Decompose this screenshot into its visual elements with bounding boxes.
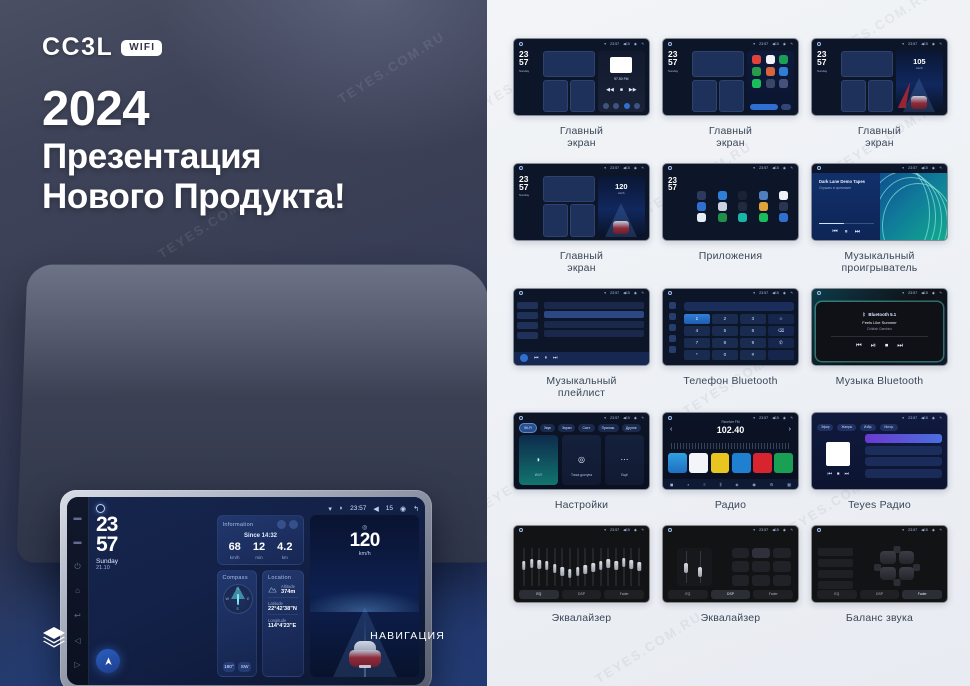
- player-controls[interactable]: ⏮ ⏹ ⏭: [827, 471, 849, 477]
- thumb-body: ᛒ Bluetooth 5.1 Feels Like Summer Childi…: [812, 298, 947, 365]
- stat-unit: km: [277, 555, 292, 560]
- band-slider[interactable]: [598, 548, 604, 586]
- teyes-radio-tabs[interactable]: Эфир Жанры Избр. Истор.: [812, 422, 947, 432]
- preset-flat[interactable]: [752, 575, 770, 586]
- car-icon: [697, 191, 706, 200]
- information-card: [543, 176, 595, 202]
- assistant-icon[interactable]: ◉: [400, 505, 406, 513]
- search-icon[interactable]: ⌕: [687, 482, 689, 487]
- more-icon: ⋯: [605, 455, 644, 464]
- gallery-item[interactable]: ▾23:57◀15◉↰ Эфир Жанры Избр. Истор. ⏮ ⏹: [811, 412, 948, 511]
- thumb-body: 23 57 Sunday: [812, 48, 947, 115]
- station-list[interactable]: [865, 434, 943, 485]
- maps-icon: [718, 213, 727, 222]
- tune-down-icon[interactable]: ‹: [670, 426, 672, 433]
- stop-icon[interactable]: ⏹: [885, 342, 888, 350]
- compass-north-label: N: [236, 587, 239, 591]
- caption-line1: Радио: [715, 499, 746, 511]
- screen-thumbnail-equalizer-simple[interactable]: ▾23:57◀15◉↰: [662, 525, 799, 603]
- wifi-icon: ▾: [328, 505, 332, 513]
- gallery-item[interactable]: ▾23:57◀15◉↰ 23 57: [662, 163, 799, 275]
- next-icon[interactable]: ⏭: [553, 355, 558, 361]
- phone-sidebar[interactable]: [663, 298, 682, 365]
- caption-line1: Главный: [709, 125, 752, 137]
- caption-line2: проигрыватель: [842, 262, 918, 274]
- track-artist: Слушать в оригинале: [819, 186, 874, 190]
- speed-readout: 105km/h: [896, 57, 943, 70]
- sidebar-item-tracks[interactable]: [517, 302, 538, 309]
- favorites-icon[interactable]: ☆: [768, 314, 794, 324]
- thumb-body: Dark Lane Demo Tapes Слушать в оригинале…: [812, 173, 947, 240]
- thumb-status-bar: ▾23:57◀15◉↰: [514, 289, 649, 298]
- caption-line1: Главный: [858, 125, 901, 137]
- track-title: Dark Lane Demo Tapes: [819, 179, 874, 184]
- menu-key-icon[interactable]: ▬: [73, 513, 82, 522]
- player-controls[interactable]: ⏮ ⏸ ⏭: [819, 229, 874, 236]
- player-controls[interactable]: ⏮ ⏯ ⏹ ⏭: [856, 342, 903, 350]
- information-card: [543, 51, 595, 77]
- wifi-icon: ◗: [519, 455, 558, 464]
- keypad[interactable]: 1 2 3 ☆ 4 5 6 ⌫ 7 8 9 ✆: [684, 314, 794, 360]
- tab-history[interactable]: Истор.: [880, 424, 898, 431]
- band-slider[interactable]: [613, 548, 619, 586]
- chrome-icon: [697, 202, 706, 211]
- caption-line1: Музыка Bluetooth: [836, 375, 924, 387]
- headline-line2: Нового Продукта!: [42, 177, 442, 217]
- dialer-area[interactable]: 1 2 3 ☆ 4 5 6 ⌫ 7 8 9 ✆: [682, 298, 798, 365]
- altitude-value: 374m: [281, 589, 295, 595]
- screen-thumbnail-home-media[interactable]: ▾23:57◀15◉↰ 23 57 Sunday: [513, 38, 650, 116]
- clock-minutes: 57: [817, 59, 839, 67]
- play-store-icon: [759, 213, 768, 222]
- brand-model-text: CC3L: [42, 33, 113, 62]
- shortcut-grid: [747, 51, 794, 92]
- navigation-label: НАВИГАЦИЯ: [370, 630, 445, 642]
- home-key-icon[interactable]: ⌂: [73, 586, 82, 595]
- screen-thumbnail-home-navi-red[interactable]: ▾23:57◀15◉↰ 23 57 Sunday: [811, 38, 948, 116]
- play-pause-icon[interactable]: ⏯: [871, 342, 876, 350]
- sidebar-item-folders[interactable]: [517, 332, 538, 339]
- settings-icon[interactable]: [277, 520, 286, 529]
- key-hash[interactable]: #: [740, 350, 766, 360]
- loc-icon[interactable]: ◉: [752, 482, 756, 487]
- tab-effects[interactable]: DSP: [562, 590, 602, 599]
- next-icon[interactable]: ⏭: [845, 471, 850, 477]
- bluetooth-player: ᛒ Bluetooth 5.1 Feels Like Summer Childi…: [816, 302, 943, 361]
- media-quick-actions: [601, 103, 642, 109]
- preset-buttons[interactable]: [732, 548, 791, 586]
- preset-vocal[interactable]: [773, 561, 791, 572]
- thumb-body: 1 2 3 ☆ 4 5 6 ⌫ 7 8 9 ✆: [663, 298, 798, 365]
- thumb-widgets: [541, 173, 598, 240]
- pause-icon[interactable]: ⏸: [545, 355, 548, 361]
- thumb-body: 23 57 Sunday: [514, 48, 649, 115]
- tab-apps[interactable]: Прилож.: [598, 424, 619, 432]
- preset-2[interactable]: [689, 453, 708, 473]
- bluetooth-icon: [718, 191, 727, 200]
- status-time: 23:57: [350, 505, 366, 512]
- tab-genres[interactable]: Жанры: [837, 424, 856, 431]
- tab-balance[interactable]: Fader: [604, 590, 644, 599]
- player-info: Dark Lane Demo Tapes Слушать в оригинале…: [812, 173, 880, 240]
- thumb-status-bar: ▾23:57◀15◉↰: [812, 413, 947, 422]
- key-6[interactable]: 6: [740, 326, 766, 336]
- gallery-item[interactable]: ▾23:57◀15◉↰: [513, 525, 650, 624]
- seat-rear-right: [899, 567, 915, 580]
- now-playing-bar[interactable]: ⏮ ⏸ ⏭: [514, 352, 649, 365]
- key-9[interactable]: 9: [740, 338, 766, 348]
- compass-card: [692, 80, 717, 112]
- navigation-widget: 120km/h: [598, 176, 645, 237]
- key-8[interactable]: 8: [712, 338, 738, 348]
- stop-icon[interactable]: ⏹: [837, 471, 840, 477]
- previous-icon[interactable]: ⏮: [534, 355, 539, 361]
- list-item[interactable]: [865, 446, 943, 455]
- screen-thumbnail-music-player[interactable]: ▾23:57◀15◉↰ Dark Lane Demo Tapes Слушать…: [811, 163, 948, 241]
- volume-up-key-icon[interactable]: ▷: [73, 660, 82, 669]
- band-slider[interactable]: [636, 548, 642, 586]
- compass-heading: 180°: [223, 662, 236, 672]
- settings-icon: [779, 67, 788, 76]
- settings-icon[interactable]: ⚙: [770, 482, 774, 487]
- caption-line1: Эквалайзер: [552, 612, 612, 624]
- list-item[interactable]: [865, 469, 943, 478]
- tab-balance[interactable]: Fader: [753, 590, 793, 599]
- contacts-icon[interactable]: [669, 313, 676, 320]
- gallery-icon: [766, 67, 775, 76]
- previous-icon[interactable]: ⏮: [832, 229, 837, 236]
- caption: Главный экран: [560, 125, 603, 150]
- home-icon[interactable]: [96, 504, 105, 513]
- tab-equalizer[interactable]: EQ: [519, 590, 559, 599]
- preset-rock[interactable]: [752, 548, 770, 559]
- list-item[interactable]: [544, 302, 644, 309]
- preset-driver[interactable]: [818, 548, 853, 556]
- gallery-item[interactable]: ▾23:57◀15◉↰ 23 57 Sunday: [513, 163, 650, 275]
- lower-widgets: [543, 204, 595, 236]
- key-5[interactable]: 5: [712, 326, 738, 336]
- tab-equalizer[interactable]: EQ: [668, 590, 708, 599]
- clock-icon: [718, 202, 727, 211]
- car-dashboard-scene: ▬ ▬ ⏻ ⌂ ↩ ◁ ▷ ▾ ◗: [0, 232, 487, 686]
- band-slider[interactable]: [606, 548, 612, 586]
- backspace-icon[interactable]: ⌫: [768, 326, 794, 336]
- caption: Эквалайзер: [552, 612, 612, 624]
- compass-east-label: E: [247, 597, 249, 601]
- tuning-controls[interactable]: ‹ ›: [670, 426, 791, 433]
- screen-thumbnail-home-navi[interactable]: ▾23:57◀15◉↰ 23 57 Sunday: [513, 163, 650, 241]
- band-slider[interactable]: [567, 548, 573, 586]
- screen-thumbnail-bluetooth-phone[interactable]: ▾23:57◀15◉↰ 1: [662, 288, 799, 366]
- radio-bottom-nav[interactable]: ◼ ⌕ ≡ ⫼ ◈ ◉ ⚙ ▦: [663, 479, 798, 489]
- clock-minutes: 57: [668, 184, 687, 191]
- gallery-item[interactable]: ▾23:57◀15◉↰: [513, 288, 650, 400]
- list-icon[interactable]: ≡: [703, 482, 705, 487]
- clock-date: 21.10: [96, 565, 211, 571]
- preset-front[interactable]: [818, 570, 853, 578]
- number-field[interactable]: [684, 302, 794, 311]
- settings-icon[interactable]: [669, 346, 676, 353]
- band-slider[interactable]: [621, 548, 627, 586]
- screen-thumbnail-radio[interactable]: ▾23:57◀15◉↰ Receiver FM 102.40 ‹ ›: [662, 412, 799, 490]
- list-item[interactable]: [544, 330, 644, 337]
- caption-line1: Баланс звука: [846, 612, 913, 624]
- call-icon[interactable]: ✆: [768, 338, 794, 348]
- back-key-icon[interactable]: ↩: [73, 611, 82, 620]
- thumb-clock: 23 57 Sunday: [514, 48, 541, 115]
- bluetooth-version: Bluetooth 5.1: [868, 312, 896, 317]
- navi-car-model: [911, 96, 927, 109]
- caption-line2: экран: [560, 262, 603, 274]
- key-2[interactable]: 2: [712, 314, 738, 324]
- dialpad-icon[interactable]: [669, 302, 676, 309]
- gallery-item[interactable]: ▾23:57◀15◉↰: [662, 525, 799, 624]
- compass-card: [543, 204, 568, 236]
- back-icon[interactable]: ↰: [413, 505, 419, 513]
- tune-up-icon[interactable]: ›: [789, 426, 791, 433]
- now-playing: ⏮ ⏹ ⏭: [817, 434, 860, 485]
- seat-front-right: [899, 551, 915, 564]
- station-name: 97.50 FM: [598, 77, 645, 81]
- caption: Радио: [715, 499, 746, 511]
- band-slider[interactable]: [536, 548, 542, 586]
- power-key-icon[interactable]: ⏻: [73, 562, 82, 571]
- clock-minutes: 57: [668, 59, 690, 67]
- frequency-scale[interactable]: [671, 443, 790, 449]
- preset-5[interactable]: [753, 453, 772, 473]
- speed-unit: km/h: [598, 191, 645, 195]
- band-slider[interactable]: [544, 548, 550, 586]
- gallery-item[interactable]: ▾23:57◀15◉↰ 1: [662, 288, 799, 400]
- screen-thumbnail-bluetooth-music[interactable]: ▾23:57◀15◉↰ ᛒ Bluetooth 5.1 Feels Like S…: [811, 288, 948, 366]
- fader-pad[interactable]: [874, 546, 920, 586]
- information-header: Information: [223, 520, 299, 529]
- tab-display[interactable]: Экран: [558, 424, 576, 432]
- settings-cards[interactable]: ◗ Wi-Fi ◎ Точка доступа ⋯ Ещё: [519, 435, 644, 485]
- band-icon[interactable]: ◼: [670, 482, 673, 487]
- compass-card: [543, 80, 568, 112]
- preset-pop[interactable]: [732, 548, 750, 559]
- eq-icon[interactable]: ⫼: [720, 482, 722, 487]
- bluetooth-music-icon: [738, 191, 747, 200]
- screen-thumbnail-equalizer-bands[interactable]: ▾23:57◀15◉↰: [513, 525, 650, 603]
- list-item[interactable]: [544, 321, 644, 328]
- tab-wifi[interactable]: Wi-Fi: [519, 423, 537, 433]
- wifi-card[interactable]: ◗ Wi-Fi: [519, 435, 558, 485]
- screen-thumbnail-sound-balance[interactable]: ▾23:57◀15◉↰: [811, 525, 948, 603]
- thumb-clock: 23 57: [663, 173, 687, 240]
- sidebar-item-albums[interactable]: [517, 312, 538, 319]
- mode-key-icon[interactable]: ▬: [73, 537, 82, 546]
- screen-thumbnail-teyes-radio[interactable]: ▾23:57◀15◉↰ Эфир Жанры Избр. Истор. ⏮ ⏹: [811, 412, 948, 490]
- screen-thumbnail-home-apps[interactable]: ▾23:57◀15◉↰ 23 57 Sunday: [662, 38, 799, 116]
- band-slider[interactable]: [529, 548, 535, 586]
- head-unit-screen[interactable]: ▬ ▬ ⏻ ⌂ ↩ ◁ ▷ ▾ ◗: [67, 497, 425, 685]
- caption: Главный экран: [709, 125, 752, 150]
- wifi-signal-icon: ◗: [339, 505, 343, 512]
- tab-more[interactable]: Другое: [622, 424, 641, 432]
- headline-year: 2024: [42, 85, 442, 134]
- gallery-item[interactable]: ▾23:57◀15◉↰ Receiver FM 102.40 ‹ ›: [662, 412, 799, 511]
- screens-grid: ▾23:57◀15◉↰ 23 57 Sunday: [513, 38, 948, 624]
- screen-thumbnail-playlist[interactable]: ▾23:57◀15◉↰: [513, 288, 650, 366]
- information-card[interactable]: Information Since 14:32: [217, 515, 305, 565]
- preset-all[interactable]: [818, 581, 853, 589]
- location-altitude-row: Altitude 374m: [268, 584, 299, 598]
- music-icon: [766, 79, 775, 88]
- tab-balance[interactable]: Fader: [902, 590, 942, 599]
- key-4[interactable]: 4: [684, 326, 710, 336]
- tab-effects[interactable]: DSP: [711, 590, 751, 599]
- band-slider[interactable]: [629, 548, 635, 586]
- previous-icon[interactable]: ⏮: [856, 342, 862, 350]
- track-title: Feels Like Summer: [862, 320, 896, 325]
- compass-dial: N E S W: [223, 584, 253, 614]
- refresh-icon[interactable]: [289, 520, 298, 529]
- position-presets[interactable]: [818, 548, 853, 589]
- list-item[interactable]: [865, 457, 943, 466]
- seat-layout: [880, 551, 915, 580]
- location-card: [570, 204, 595, 236]
- thumb-widgets: [690, 48, 747, 115]
- hotspot-icon: ◎: [562, 455, 601, 464]
- preset-custom[interactable]: [752, 561, 770, 572]
- screen-thumbnail-apps[interactable]: ▾23:57◀15◉↰ 23 57: [662, 163, 799, 241]
- key-1[interactable]: 1: [684, 314, 710, 324]
- track-artist: Childish Gambino: [867, 327, 892, 331]
- tab-recommended[interactable]: Эфир: [817, 424, 833, 431]
- audio-tabs[interactable]: EQ DSP Fader: [519, 590, 644, 599]
- speed-value: 120: [615, 182, 628, 191]
- band-slider[interactable]: [583, 548, 589, 586]
- thumb-widgets: [541, 48, 598, 115]
- gallery-item[interactable]: ▾23:57◀15◉↰ ᛒ Bluetooth 5.1 Feels Like S…: [811, 288, 948, 400]
- preset-stations[interactable]: [668, 453, 793, 473]
- empty-key: [768, 350, 794, 360]
- caption-line1: Приложения: [699, 250, 762, 262]
- preset-jazz[interactable]: [773, 548, 791, 559]
- status-volume: 15: [386, 505, 393, 512]
- play-store-icon: [752, 79, 761, 88]
- hardware-key-strip[interactable]: ▬ ▬ ⏻ ⌂ ↩ ◁ ▷: [67, 497, 89, 685]
- dock-row: [750, 104, 791, 110]
- compass-west-label: W: [226, 597, 229, 601]
- rds-icon[interactable]: ◈: [735, 482, 738, 487]
- band-slider[interactable]: [575, 548, 581, 586]
- apps-icon[interactable]: ▦: [787, 482, 791, 487]
- teyes-radio-body: ⏮ ⏹ ⏭: [817, 434, 942, 485]
- next-icon[interactable]: ⏭: [855, 229, 860, 236]
- location-card[interactable]: Location Altitude 374m: [262, 570, 305, 677]
- caption-line1: Телефон Bluetooth: [683, 375, 777, 387]
- progress-bar[interactable]: [819, 223, 874, 224]
- caption: Приложения: [699, 250, 762, 262]
- gallery-item[interactable]: ▾23:57◀15◉↰ 23 57 Sunday: [811, 38, 948, 150]
- location-altitude: Altitude 374m: [281, 584, 295, 595]
- caption: Эквалайзер: [701, 612, 761, 624]
- headline: 2024 Презентация Нового Продукта!: [42, 85, 442, 217]
- band-slider[interactable]: [521, 548, 527, 586]
- preset-classic[interactable]: [732, 561, 750, 572]
- information-actions[interactable]: [277, 520, 298, 529]
- gallery-item[interactable]: ▾23:57◀15◉↰ 23 57 Sunday: [513, 38, 650, 150]
- thumb-body: 23 57: [663, 173, 798, 240]
- apps-grid-icon: [779, 79, 788, 88]
- call-log-icon[interactable]: [669, 335, 676, 342]
- search-icon[interactable]: [669, 324, 676, 331]
- thumb-status-bar: ▾23:57◀15◉↰: [663, 39, 798, 48]
- list-item[interactable]: [865, 434, 943, 443]
- speed-unit: km/h: [310, 551, 419, 557]
- gallery-item[interactable]: ▾23:57◀15◉↰ Wi-Fi Звук Экран Сист. Прило…: [513, 412, 650, 511]
- preset-4[interactable]: [732, 453, 751, 473]
- band-slider[interactable]: [559, 548, 565, 586]
- next-icon[interactable]: ⏭: [897, 342, 903, 350]
- stat-value: 68: [229, 542, 241, 553]
- thumb-body: 23 57 Sunday: [663, 48, 798, 115]
- stop-icon: ■: [620, 87, 623, 93]
- browser-icon: [766, 55, 775, 64]
- preset-3[interactable]: [711, 453, 730, 473]
- tab-equalizer[interactable]: EQ: [817, 590, 857, 599]
- band-slider[interactable]: [552, 548, 558, 586]
- progress-bar[interactable]: [831, 336, 928, 337]
- key-star[interactable]: *: [684, 350, 710, 360]
- preset-passenger[interactable]: [818, 559, 853, 567]
- preset-1[interactable]: [668, 453, 687, 473]
- status-bar: ▾ ◗ 23:57 ◀ 15 ◉ ↰: [96, 502, 419, 515]
- pause-icon[interactable]: ⏸: [845, 229, 848, 236]
- location-card: [570, 80, 595, 112]
- audio-tabs[interactable]: EQ DSP Fader: [668, 590, 793, 599]
- speed-readout: ◎ 120 km/h: [310, 524, 419, 557]
- preset-bass[interactable]: [732, 575, 750, 586]
- settings-tabs[interactable]: Wi-Fi Звук Экран Сист. Прилож. Другое: [514, 422, 649, 433]
- speed-unit: km/h: [896, 66, 943, 70]
- speed-value: 105: [913, 57, 926, 66]
- key-3[interactable]: 3: [740, 314, 766, 324]
- equalizer-bands[interactable]: [521, 548, 642, 586]
- sidebar-item-artists[interactable]: [517, 322, 538, 329]
- key-7[interactable]: 7: [684, 338, 710, 348]
- caption: Музыкальный проигрыватель: [842, 250, 918, 275]
- preset-live[interactable]: [773, 575, 791, 586]
- clock-widget[interactable]: 23 57 Sunday 21.10: [96, 515, 211, 571]
- hotspot-card[interactable]: ◎ Точка доступа: [562, 435, 601, 485]
- screen-thumbnail-settings[interactable]: ▾23:57◀15◉↰ Wi-Fi Звук Экран Сист. Прило…: [513, 412, 650, 490]
- previous-icon[interactable]: ⏮: [827, 471, 832, 477]
- stat-speed: 68 km/h: [229, 542, 241, 560]
- gallery-item[interactable]: ▾23:57◀15◉↰ Dark Lane Demo Tapes Слушать…: [811, 163, 948, 275]
- gallery-item[interactable]: ▾23:57◀15◉↰ 23 57 Sunday: [662, 38, 799, 150]
- list-item[interactable]: [544, 311, 644, 318]
- more-card[interactable]: ⋯ Ещё: [605, 435, 644, 485]
- tab-effects[interactable]: DSP: [860, 590, 900, 599]
- tab-system[interactable]: Сист.: [578, 424, 594, 432]
- band-slider[interactable]: [590, 548, 596, 586]
- bass-treble-sliders[interactable]: [677, 548, 712, 586]
- station-logo: [826, 442, 850, 466]
- preset-6[interactable]: [774, 453, 793, 473]
- brand-logo: CC3L WIFI: [42, 33, 162, 62]
- audio-tabs[interactable]: EQ DSP Fader: [817, 590, 942, 599]
- key-0[interactable]: 0: [712, 350, 738, 360]
- information-since: Since 14:32: [223, 533, 299, 539]
- tab-favorites[interactable]: Избр.: [860, 424, 876, 431]
- tab-sound[interactable]: Звук: [540, 424, 555, 432]
- gallery-item[interactable]: ▾23:57◀15◉↰: [811, 525, 948, 624]
- compass-card[interactable]: Compass N E S W: [217, 570, 257, 677]
